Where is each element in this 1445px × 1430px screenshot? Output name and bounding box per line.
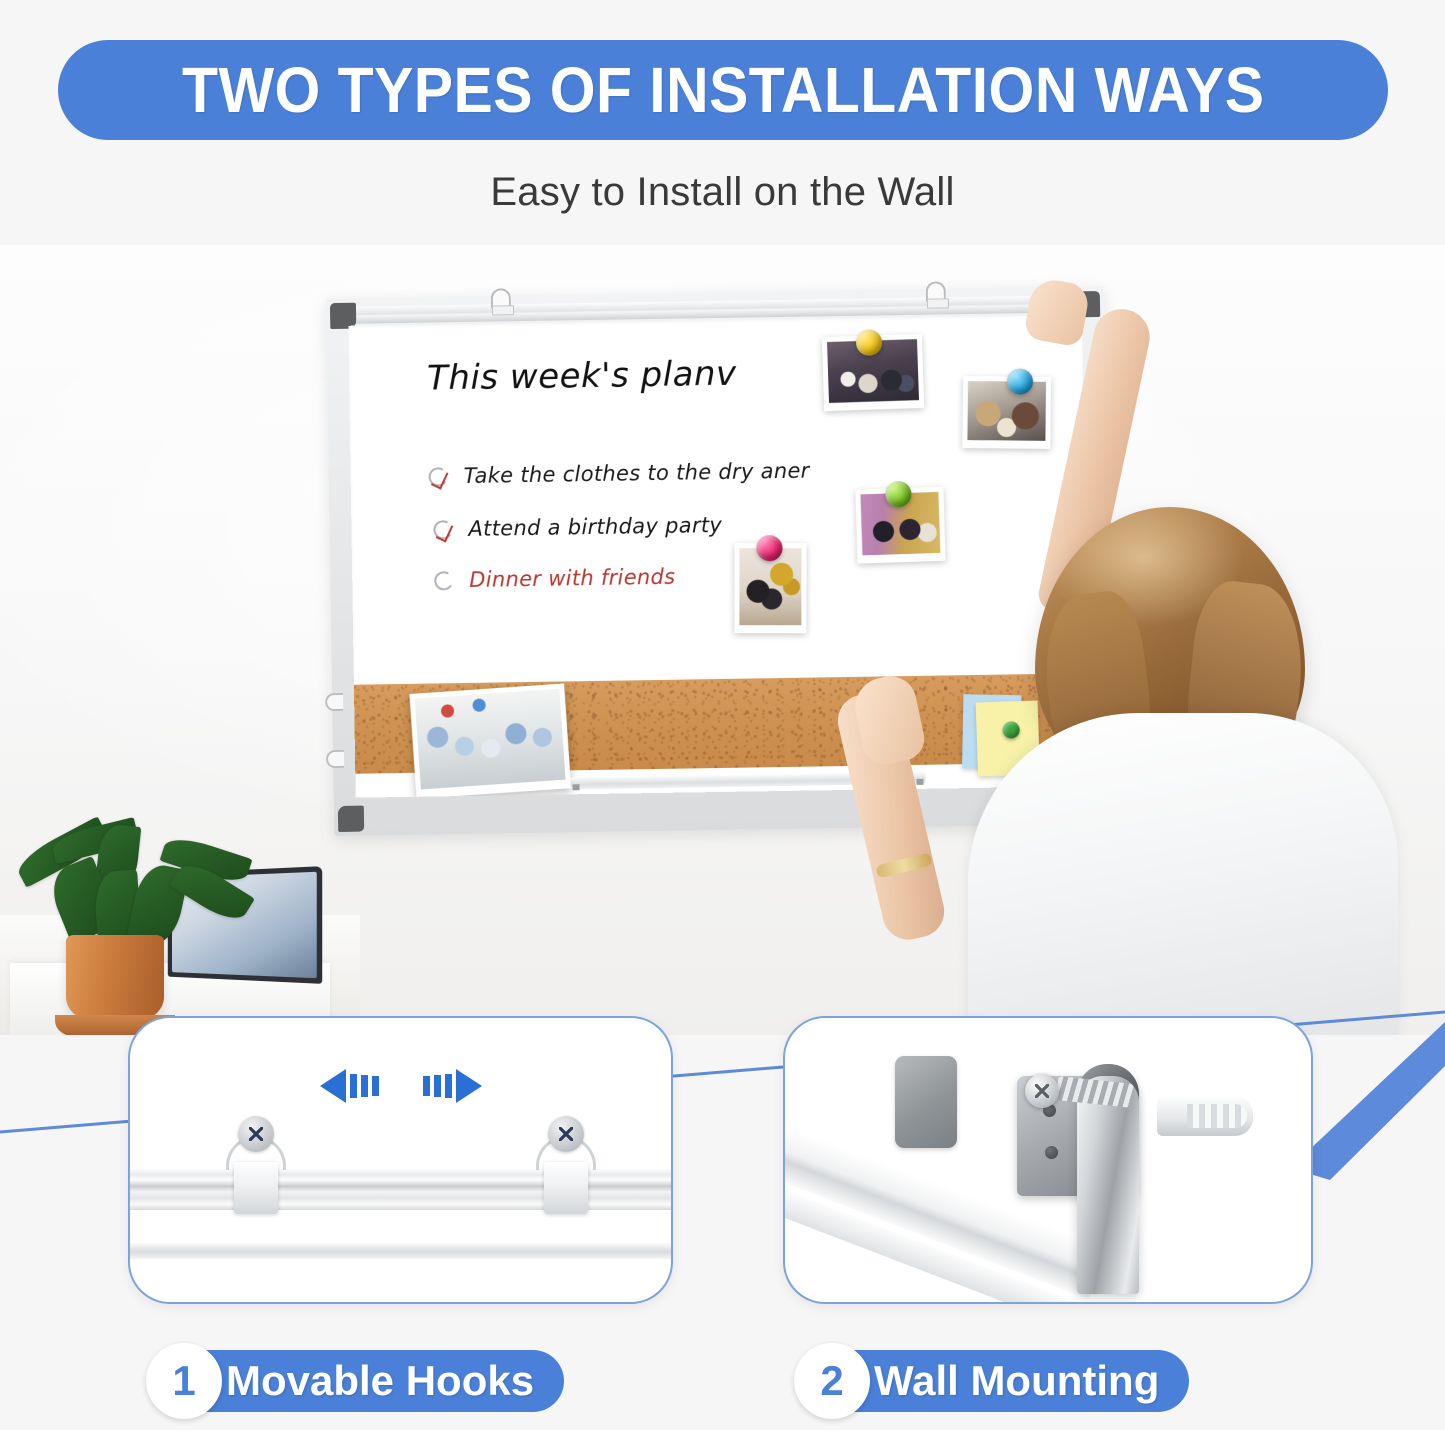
raised-hand bbox=[1023, 276, 1091, 347]
label-number-badge: 2 bbox=[794, 1343, 870, 1419]
movable-hook[interactable] bbox=[530, 1116, 602, 1188]
label-number: 2 bbox=[820, 1357, 843, 1405]
label-number-badge: 1 bbox=[146, 1343, 222, 1419]
side-hook-icon[interactable] bbox=[326, 750, 344, 768]
screw-head-icon bbox=[238, 1116, 274, 1152]
divider-band-right bbox=[1290, 1022, 1445, 1180]
corner-cap-bottom-left bbox=[338, 806, 364, 832]
arrow-head bbox=[456, 1069, 482, 1103]
family-photo[interactable] bbox=[409, 683, 571, 797]
arrow-bar bbox=[423, 1076, 430, 1096]
label-text: Wall Mounting bbox=[874, 1357, 1159, 1405]
page-subtitle: Easy to Install on the Wall bbox=[0, 170, 1445, 215]
bracket-hole bbox=[1045, 1146, 1058, 1159]
handwritten-title: This week's planv bbox=[427, 354, 737, 399]
slide-direction-arrows bbox=[130, 1064, 671, 1108]
person-shirt bbox=[968, 713, 1398, 1035]
photo-image bbox=[415, 689, 566, 790]
arrow-bar bbox=[372, 1076, 379, 1096]
plant-pot bbox=[66, 935, 164, 1023]
wall-mounting-panel bbox=[783, 1016, 1313, 1304]
wall-plug bbox=[1157, 1096, 1253, 1136]
arrow-bar bbox=[445, 1074, 452, 1098]
hook-body bbox=[544, 1162, 588, 1214]
todo-text: Take the clothes to the dry aner bbox=[463, 459, 809, 488]
label-text: Movable Hooks bbox=[226, 1357, 534, 1405]
todo-item[interactable]: Dinner with friends bbox=[434, 565, 676, 593]
arrow-bar bbox=[434, 1075, 441, 1097]
arrow-right-icon bbox=[423, 1069, 482, 1103]
wall-anchor-plate bbox=[895, 1056, 957, 1148]
arrow-bar bbox=[350, 1074, 357, 1098]
arrow-left-icon bbox=[320, 1069, 379, 1103]
aluminum-post bbox=[1077, 1076, 1139, 1294]
movable-hook[interactable] bbox=[220, 1116, 292, 1188]
todo-item[interactable]: Take the clothes to the dry aner bbox=[428, 459, 809, 489]
hanging-hook-icon[interactable] bbox=[491, 288, 511, 308]
checkbox-empty-icon[interactable] bbox=[432, 569, 455, 592]
arrow-bar bbox=[361, 1075, 368, 1097]
header-banner: TWO TYPES OF INSTALLATION WAYS bbox=[58, 40, 1388, 140]
todo-text: Attend a birthday party bbox=[468, 513, 722, 541]
checkbox-checked-icon[interactable] bbox=[432, 518, 455, 541]
room-scene: This week's planv Take the clothes to th… bbox=[0, 245, 1445, 1035]
todo-text: Dinner with friends bbox=[469, 565, 676, 592]
label-number: 1 bbox=[172, 1357, 195, 1405]
screw-head-icon bbox=[1025, 1074, 1059, 1108]
magnet-pink-icon[interactable] bbox=[756, 535, 782, 561]
person-installing bbox=[860, 245, 1330, 1035]
label-wall-mounting: 2 Wall Mounting bbox=[800, 1350, 1189, 1412]
side-hook-icon[interactable] bbox=[325, 693, 343, 711]
page-title: TWO TYPES OF INSTALLATION WAYS bbox=[182, 53, 1264, 127]
todo-item[interactable]: Attend a birthday party bbox=[433, 513, 722, 542]
label-movable-hooks: 1 Movable Hooks bbox=[152, 1350, 564, 1412]
screw-head-icon bbox=[548, 1116, 584, 1152]
movable-hooks-panel bbox=[128, 1016, 673, 1304]
hook-body bbox=[234, 1162, 278, 1214]
checkbox-checked-icon[interactable] bbox=[427, 465, 450, 488]
balloons-photo[interactable] bbox=[734, 543, 806, 633]
arrow-head bbox=[320, 1069, 346, 1103]
aluminum-rail-lower bbox=[128, 1243, 673, 1259]
